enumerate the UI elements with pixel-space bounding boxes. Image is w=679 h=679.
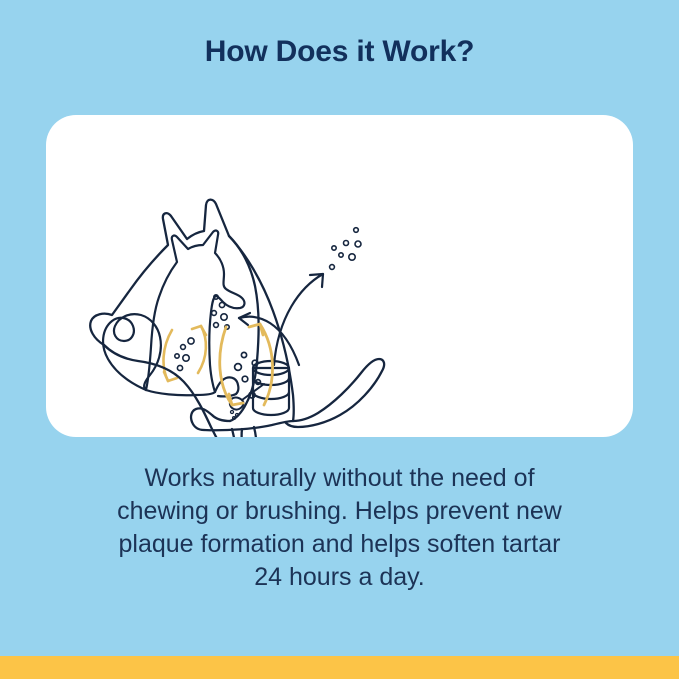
cat-body-bubbles (175, 338, 194, 371)
arrow-jar-to-cat (239, 313, 299, 365)
diagram-card (46, 115, 633, 437)
caption: Works naturally without the need of chew… (60, 462, 619, 594)
dog-silhouette (90, 200, 384, 437)
how-it-works-diagram (46, 115, 633, 437)
cat-circulation-arrows (163, 326, 206, 381)
dog-circulation-arrows (220, 324, 273, 405)
caption-line-2: chewing or brushing. Helps prevent new (60, 495, 619, 528)
infographic-page: How Does it Work? (0, 0, 679, 679)
page-title: How Does it Work? (0, 34, 679, 70)
dog-mouth-bubbles (330, 228, 361, 270)
caption-line-4: 24 hours a day. (60, 561, 619, 594)
caption-line-3: plaque formation and helps soften tartar (60, 528, 619, 561)
caption-line-1: Works naturally without the need of (60, 462, 619, 495)
bottom-accent-bar (0, 656, 679, 679)
arrow-jar-to-dog (274, 274, 323, 365)
